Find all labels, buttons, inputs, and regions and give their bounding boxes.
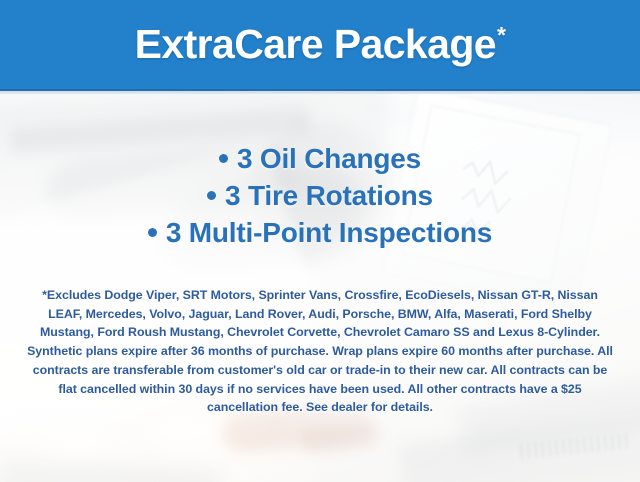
page-title: ExtraCare Package* <box>0 16 640 72</box>
disclaimer-text: *Excludes Dodge Viper, SRT Motors, Sprin… <box>26 286 614 417</box>
bullet-dot-icon <box>219 154 228 163</box>
list-item-label: 3 Multi-Point Inspections <box>166 217 492 248</box>
bullet-dot-icon <box>148 228 157 237</box>
page-title-text: ExtraCare Package <box>135 21 496 67</box>
benefits-list: 3 Oil Changes 3 Tire Rotations 3 Multi-P… <box>0 140 640 251</box>
header-banner-underline <box>0 91 640 94</box>
list-item: 3 Tire Rotations <box>0 177 640 214</box>
bullet-dot-icon <box>207 191 216 200</box>
extracare-package-ad: ExtraCare Package* 3 Oil Changes 3 Tire … <box>0 0 640 482</box>
list-item: 3 Multi-Point Inspections <box>0 214 640 251</box>
list-item-label: 3 Oil Changes <box>237 143 421 174</box>
list-item-label: 3 Tire Rotations <box>225 180 433 211</box>
page-title-asterisk: * <box>497 22 505 48</box>
list-item: 3 Oil Changes <box>0 140 640 177</box>
